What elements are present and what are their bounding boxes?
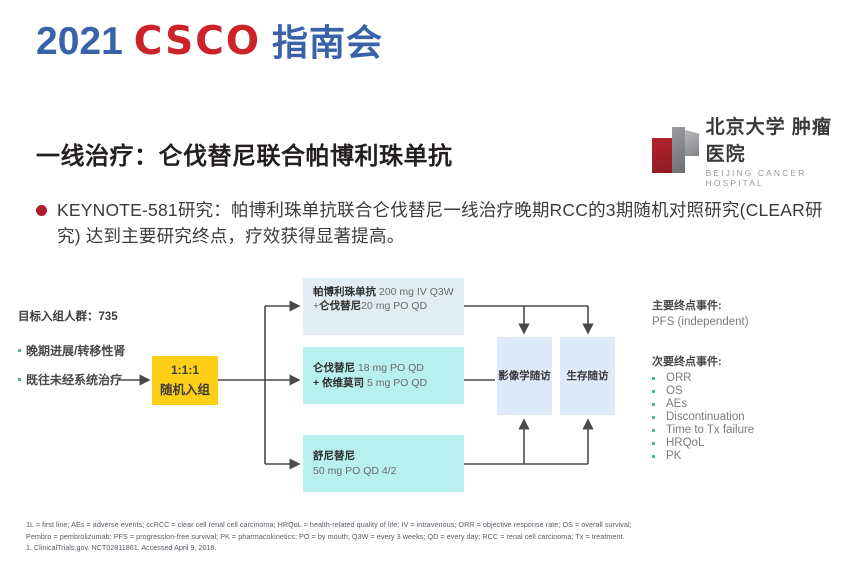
secondary-endpoint-label: OS <box>666 385 683 397</box>
hospital-mark-icon <box>652 127 698 173</box>
secondary-endpoint-label: Discontinuation <box>666 411 745 423</box>
arm-1-drug-1: 帕博利珠单抗 <box>313 286 376 298</box>
hospital-mark-gray-block-tall <box>672 127 685 173</box>
hospital-name-cn: 北京大学 肿瘤医院 <box>706 112 846 166</box>
list-item: Discontinuation <box>652 411 842 423</box>
arm-2-dose-1: 18 mg PO QD <box>355 362 424 374</box>
cohort-criterion-label: 晚期进展/转移性肾 <box>26 342 125 359</box>
cohort-heading: 目标入组人群：735 <box>18 308 148 324</box>
list-item: 晚期进展/转移性肾 <box>18 342 148 359</box>
endpoints-block: 主要终点事件: PFS (independent) 次要终点事件: ORR OS… <box>652 297 842 462</box>
square-bullet-icon <box>652 442 655 445</box>
square-bullet-icon <box>18 378 21 381</box>
arm-2-drug-1: 仑伐替尼 <box>313 362 355 374</box>
bullet-dot-icon <box>36 205 47 216</box>
lead-bullet: KEYNOTE-581研究：帕博利珠单抗联合仑伐替尼一线治疗晚期RCC的3期随机… <box>36 197 826 250</box>
list-item: PK <box>652 450 842 462</box>
study-design-diagram: 目标入组人群：735 晚期进展/转移性肾 既往未经系统治疗 1:1:1 随机入组… <box>0 275 846 510</box>
treatment-arm-2: 仑伐替尼 18 mg PO QD + 依维莫司 5 mg PO QD <box>303 347 464 404</box>
treatment-arm-1: 帕博利珠单抗 200 mg IV Q3W +仑伐替尼20 mg PO QD <box>303 278 464 335</box>
randomization-box: 1:1:1 随机入组 <box>152 356 218 405</box>
list-item: AEs <box>652 398 842 410</box>
arm-3-drug-1: 舒尼替尼 <box>313 450 355 462</box>
hospital-name-group: 北京大学 肿瘤医院 BEIJING CANCER HOSPITAL <box>706 112 846 188</box>
secondary-endpoint-label: Time to Tx failure <box>666 424 754 436</box>
footnotes: 1L = first line; AEs = adverse events; c… <box>26 519 826 554</box>
arm-1-dose-2: 20 mg PO QD <box>361 300 427 312</box>
secondary-endpoint-label: PK <box>666 450 681 462</box>
brand-csco-wordmark: CSCO <box>134 22 261 61</box>
square-bullet-icon <box>652 455 655 458</box>
square-bullet-icon <box>652 429 655 432</box>
target-cohort-block: 目标入组人群：735 晚期进展/转移性肾 既往未经系统治疗 <box>18 308 148 388</box>
list-item: Time to Tx failure <box>652 424 842 436</box>
hospital-name-en: BEIJING CANCER HOSPITAL <box>706 168 846 188</box>
footnote-abbreviations-line-2: Pembro = pembrolizumab; PFS = progressio… <box>26 531 826 543</box>
footnote-citation: 1. ClinicalTrials.gov. NCT02811861. Acce… <box>26 542 826 554</box>
randomization-ratio: 1:1:1 <box>171 363 199 377</box>
followup-box-survival: 生存随访 <box>560 337 615 415</box>
page-title: 一线治疗：仑伐替尼联合帕博利珠单抗 <box>36 136 453 171</box>
primary-endpoint-heading: 主要终点事件: <box>652 297 842 313</box>
secondary-endpoint-heading: 次要终点事件: <box>652 353 842 369</box>
hospital-mark-red-block <box>652 138 672 173</box>
brand-year: 2021 <box>36 22 123 61</box>
lead-bullet-text: KEYNOTE-581研究：帕博利珠单抗联合仑伐替尼一线治疗晚期RCC的3期随机… <box>57 197 826 250</box>
hospital-logo: 北京大学 肿瘤医院 BEIJING CANCER HOSPITAL <box>652 112 846 188</box>
followup-imaging-label: 影像学随访 <box>498 369 551 383</box>
followup-survival-label: 生存随访 <box>567 369 609 383</box>
arm-2-drug-2: + 依维莫司 <box>313 377 364 389</box>
primary-endpoint-value: PFS (independent) <box>652 316 842 328</box>
square-bullet-icon <box>652 390 655 393</box>
list-item: HRQoL <box>652 437 842 449</box>
arm-2-dose-2: 5 mg PO QD <box>364 377 427 389</box>
arm-1-drug-2: 仑伐替尼 <box>319 300 361 312</box>
brand-suffix-label: 指南会 <box>272 25 383 61</box>
footnote-abbreviations-line-1: 1L = first line; AEs = adverse events; c… <box>26 519 826 531</box>
cohort-criteria-list: 晚期进展/转移性肾 既往未经系统治疗 <box>18 342 148 388</box>
csco-brand-logo: 2021 CSCO 指南会 <box>36 22 383 61</box>
square-bullet-icon <box>652 416 655 419</box>
secondary-endpoint-label: AEs <box>666 398 687 410</box>
hospital-mark-gray-block-short <box>685 130 699 156</box>
secondary-endpoint-list: ORR OS AEs Discontinuation Time to Tx fa… <box>652 372 842 462</box>
list-item: OS <box>652 385 842 397</box>
cohort-criterion-label: 既往未经系统治疗 <box>26 371 122 388</box>
square-bullet-icon <box>652 403 655 406</box>
square-bullet-icon <box>18 349 21 352</box>
treatment-arm-3: 舒尼替尼 50 mg PO QD 4/2 <box>303 435 464 492</box>
randomization-label: 随机入组 <box>160 379 210 398</box>
secondary-endpoint-label: ORR <box>666 372 692 384</box>
followup-box-imaging: 影像学随访 <box>497 337 552 415</box>
secondary-endpoint-label: HRQoL <box>666 437 704 449</box>
list-item: ORR <box>652 372 842 384</box>
list-item: 既往未经系统治疗 <box>18 371 148 388</box>
square-bullet-icon <box>652 377 655 380</box>
arm-3-dose-2: 50 mg PO QD 4/2 <box>313 465 396 477</box>
